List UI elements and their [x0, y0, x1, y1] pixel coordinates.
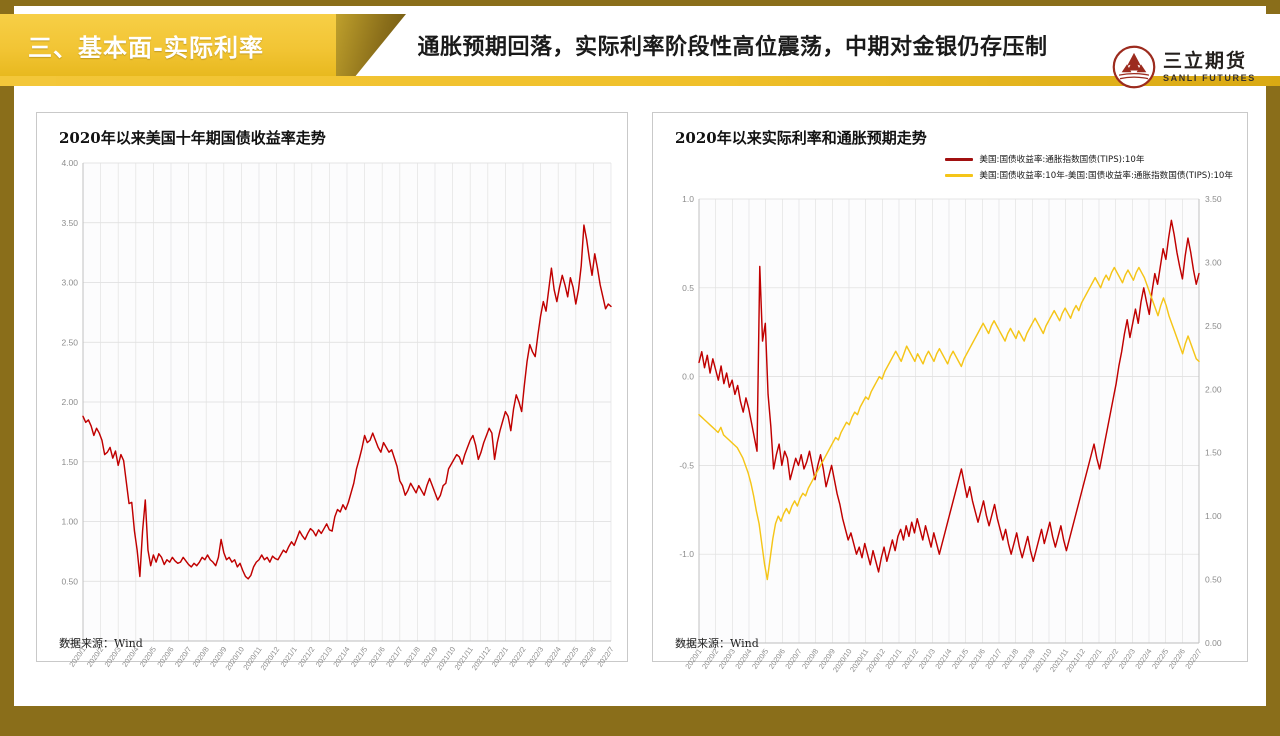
- svg-text:2020/7: 2020/7: [173, 645, 193, 669]
- slide-root: 三、基本面-实际利率 通胀预期回落，实际利率阶段性高位震荡，中期对金银仍存压制 …: [0, 0, 1280, 720]
- logo-text: 三立期货 SANLI FUTURES: [1163, 52, 1256, 83]
- logo-name-en: SANLI FUTURES: [1163, 74, 1256, 83]
- svg-text:2021/3: 2021/3: [314, 645, 334, 669]
- svg-text:2021/5: 2021/5: [349, 645, 369, 669]
- legend-label: 美国:国债收益率:10年-美国:国债收益率:通胀指数国债(TIPS):10年: [979, 169, 1233, 181]
- svg-text:2021/1: 2021/1: [278, 645, 298, 669]
- chart-plot-right: -1.5-1.0-0.50.00.51.00.000.501.001.502.0…: [659, 191, 1241, 736]
- svg-text:-1.0: -1.0: [679, 549, 694, 559]
- slide-header: 三、基本面-实际利率 通胀预期回落，实际利率阶段性高位震荡，中期对金银仍存压制 …: [0, 14, 1280, 86]
- svg-text:2022/1: 2022/1: [490, 645, 510, 669]
- svg-text:2.50: 2.50: [1205, 321, 1222, 331]
- svg-text:2.50: 2.50: [61, 337, 78, 347]
- svg-text:0.0: 0.0: [682, 372, 694, 382]
- svg-text:2020/6: 2020/6: [155, 645, 175, 669]
- svg-text:1.0: 1.0: [682, 194, 694, 204]
- svg-text:1.00: 1.00: [61, 517, 78, 527]
- chart-title-left: 2020年以来美国十年期国债收益率走势: [59, 127, 326, 148]
- svg-text:1.50: 1.50: [61, 457, 78, 467]
- svg-text:2.00: 2.00: [1205, 384, 1222, 394]
- mountain-logo-icon: [1112, 45, 1156, 89]
- svg-text:2022/7: 2022/7: [1183, 647, 1203, 671]
- svg-text:0.5: 0.5: [682, 283, 694, 293]
- legend-swatch-icon: [945, 158, 973, 161]
- svg-text:2021/8: 2021/8: [402, 645, 422, 669]
- svg-text:3.00: 3.00: [61, 278, 78, 288]
- svg-text:0.00: 0.00: [1205, 638, 1222, 648]
- svg-text:2022/3: 2022/3: [525, 645, 545, 669]
- svg-text:3.50: 3.50: [61, 218, 78, 228]
- svg-text:2021/4: 2021/4: [331, 645, 351, 669]
- svg-text:2022/5: 2022/5: [560, 645, 580, 669]
- company-logo: 三立期货 SANLI FUTURES: [1112, 44, 1264, 90]
- svg-text:-0.5: -0.5: [679, 460, 694, 470]
- svg-text:2020/8: 2020/8: [190, 645, 210, 669]
- chart-legend-right: 美国:国债收益率:通胀指数国债(TIPS):10年美国:国债收益率:10年-美国…: [945, 153, 1233, 181]
- svg-text:0.50: 0.50: [61, 576, 78, 586]
- chart-source-left: 数据来源：Wind: [59, 635, 143, 651]
- chart-panel-left: 2020年以来美国十年期国债收益率走势 0.000.501.001.502.00…: [36, 112, 628, 662]
- svg-text:2022/4: 2022/4: [542, 645, 562, 669]
- header-caption: 通胀预期回落，实际利率阶段性高位震荡，中期对金银仍存压制: [360, 14, 1105, 76]
- svg-text:2021/2: 2021/2: [296, 645, 316, 669]
- svg-text:3.50: 3.50: [1205, 194, 1222, 204]
- svg-text:2021/6: 2021/6: [366, 645, 386, 669]
- logo-name-cn: 三立期货: [1163, 52, 1256, 71]
- legend-swatch-icon: [945, 174, 973, 177]
- svg-text:2022/7: 2022/7: [595, 645, 615, 669]
- legend-item-1: 美国:国债收益率:10年-美国:国债收益率:通胀指数国债(TIPS):10年: [945, 169, 1233, 181]
- svg-text:1.00: 1.00: [1205, 511, 1222, 521]
- chart-title-right: 2020年以来实际利率和通胀预期走势: [675, 127, 927, 148]
- header-gold-underline: [0, 76, 1280, 86]
- legend-label: 美国:国债收益率:通胀指数国债(TIPS):10年: [979, 153, 1144, 165]
- svg-text:2021/7: 2021/7: [384, 645, 404, 669]
- svg-text:0.50: 0.50: [1205, 575, 1222, 585]
- legend-item-0: 美国:国债收益率:通胀指数国债(TIPS):10年: [945, 153, 1144, 165]
- svg-text:4.00: 4.00: [61, 158, 78, 168]
- section-title: 三、基本面-实际利率: [28, 14, 338, 76]
- svg-text:3.00: 3.00: [1205, 257, 1222, 267]
- svg-text:2022/6: 2022/6: [578, 645, 598, 669]
- chart-source-right: 数据来源：Wind: [675, 635, 759, 651]
- header-gold-underline-left: [0, 76, 56, 86]
- svg-text:2022/2: 2022/2: [507, 645, 527, 669]
- svg-text:2.00: 2.00: [61, 397, 78, 407]
- svg-text:1.50: 1.50: [1205, 448, 1222, 458]
- chart-panel-right: 2020年以来实际利率和通胀预期走势 美国:国债收益率:通胀指数国债(TIPS)…: [652, 112, 1248, 662]
